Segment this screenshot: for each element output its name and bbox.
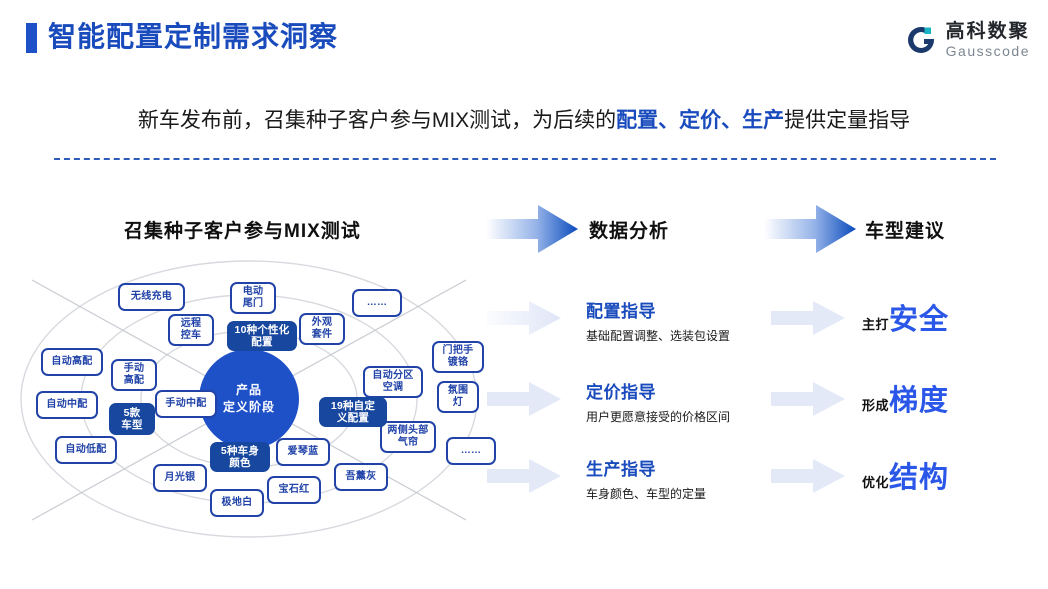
logo-en-text: Gausscode [946,44,1030,58]
suggestion-item-safety: 主打 安全 [862,304,1042,336]
mindmap-node: 两侧头部 气帘 [380,421,436,453]
mindmap-node: 极地白 [210,489,264,517]
section-divider [54,158,996,160]
flow-arrow-2-icon [764,203,856,255]
mindmap-node: 外观 套件 [299,313,345,345]
column-header-suggestion: 车型建议 [865,216,945,243]
gausscode-g-icon [904,23,938,57]
mindmap-node: 电动 尾门 [230,282,276,314]
analysis-item-config: 配置指导 基础配置调整、选装包设置 [586,300,816,345]
mindmap-node: 自动低配 [55,436,117,464]
mindmap-node: 宝石红 [267,476,321,504]
title-marker-icon [26,23,37,53]
analysis-desc: 基础配置调整、选装包设置 [586,327,816,345]
mindmap-node: 无线充电 [118,283,185,311]
suggestion-word: 梯度 [889,385,949,417]
column-header-analysis: 数据分析 [589,216,669,243]
mindmap-badge: 5种车身 颜色 [210,442,270,472]
analysis-title: 定价指导 [586,381,816,405]
suggestion-item-tier: 形成 梯度 [862,385,1042,417]
analysis-desc: 车身颜色、车型的定量 [586,485,816,503]
company-logo: 高科数聚 Gausscode [904,18,1030,62]
mindmap-badge: 5款 车型 [109,403,155,435]
mindmap-node: 门把手 镀铬 [432,341,484,373]
center-line-1: 产品 [236,382,262,399]
suggestion-prefix: 优化 [862,472,889,491]
suggestion-item-structure: 优化 结构 [862,462,1042,494]
analysis-title: 生产指导 [586,458,816,482]
column-header-collect: 召集种子客户参与MIX测试 [124,216,361,243]
mindmap-node: 氛围 灯 [437,381,479,413]
mindmap-badge: 19种自定 义配置 [319,397,387,427]
row-arrow-pricing-icon [487,381,561,417]
row-arrow-production-icon [487,458,561,494]
analysis-desc: 用户更愿意接受的价格区间 [586,408,816,426]
analysis-item-production: 生产指导 车身颜色、车型的定量 [586,458,816,503]
subtitle-line: 新车发布前，召集种子客户参与MIX测试，为后续的配置、定价、生产提供定量指导 [0,106,1048,136]
mindmap-node: 远程 控车 [168,314,214,346]
mindmap-node: 月光银 [153,464,207,492]
mindmap-badge: 10种个性化 配置 [227,321,297,351]
flow-arrow-1-icon [486,203,578,255]
page-title: 智能配置定制需求洞察 [48,20,338,54]
suggestion-word: 安全 [889,304,949,336]
mindmap-diagram: 产品 定义阶段 无线充电电动 尾门……远程 控车外观 套件自动高配手动 高配门把… [14,258,484,540]
subtitle-part2: 提供定量指导 [784,109,910,132]
mindmap-node: 吾薰灰 [334,463,388,491]
mindmap-node: …… [446,437,496,465]
subtitle-highlight: 配置、定价、生产 [616,109,784,132]
mindmap-node: 自动高配 [41,348,103,376]
analysis-item-pricing: 定价指导 用户更愿意接受的价格区间 [586,381,816,426]
analysis-title: 配置指导 [586,300,816,324]
mindmap-node: 手动中配 [155,390,217,418]
row-arrow-config-icon [487,300,561,336]
slide-header: 智能配置定制需求洞察 高科数聚 Gausscode [0,0,1048,78]
suggestion-word: 结构 [889,462,949,494]
mindmap-node: …… [352,289,402,317]
logo-cn-text: 高科数聚 [946,22,1030,41]
suggestion-prefix: 形成 [862,395,889,414]
mindmap-node: 自动分区 空调 [363,366,423,398]
suggestion-prefix: 主打 [862,314,889,333]
center-line-2: 定义阶段 [223,399,275,416]
mindmap-node: 爱琴蓝 [276,438,330,466]
mindmap-node: 手动 高配 [111,359,157,391]
subtitle-part1: 新车发布前，召集种子客户参与MIX测试，为后续的 [138,109,616,132]
slide-root: 智能配置定制需求洞察 高科数聚 Gausscode 新车发布前，召集种子客户参与… [0,0,1048,589]
mindmap-node: 自动中配 [36,391,98,419]
